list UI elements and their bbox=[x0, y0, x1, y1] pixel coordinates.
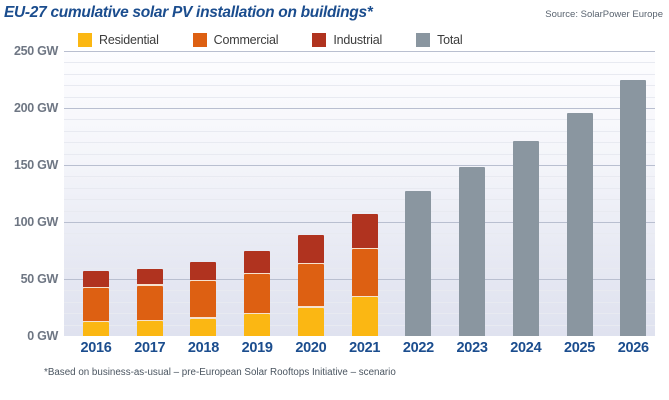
gridline-minor bbox=[64, 74, 655, 75]
legend-label: Industrial bbox=[333, 33, 382, 47]
bar-segment-residential-2017[interactable] bbox=[137, 321, 163, 336]
gridline-major bbox=[64, 51, 655, 52]
bar-segment-total-2022[interactable] bbox=[405, 191, 431, 336]
x-axis-tick-label-2024: 2024 bbox=[500, 340, 552, 356]
bar-segment-commercial-2020[interactable] bbox=[298, 264, 324, 307]
gridline-minor bbox=[64, 62, 655, 63]
bar-segment-total-2026[interactable] bbox=[620, 80, 646, 337]
bar-segment-industrial-2021[interactable] bbox=[352, 214, 378, 249]
bar-segment-divider bbox=[190, 280, 216, 282]
bar-segment-divider bbox=[298, 306, 324, 308]
legend-swatch-residential bbox=[78, 33, 92, 47]
legend-label: Commercial bbox=[214, 33, 279, 47]
y-axis-tick-label: 200 GW bbox=[0, 101, 58, 115]
x-axis-tick-label-2017: 2017 bbox=[124, 340, 176, 356]
x-axis-tick-label-2025: 2025 bbox=[554, 340, 606, 356]
x-axis-tick-label-2018: 2018 bbox=[177, 340, 229, 356]
y-axis-tick-label: 250 GW bbox=[0, 44, 58, 58]
bar-segment-industrial-2019[interactable] bbox=[244, 251, 270, 275]
page-title: EU-27 cumulative solar PV installation o… bbox=[4, 4, 373, 22]
legend-item-industrial[interactable]: Industrial bbox=[312, 33, 382, 47]
bar-segment-residential-2018[interactable] bbox=[190, 319, 216, 336]
bar-segment-commercial-2021[interactable] bbox=[352, 249, 378, 297]
x-axis-tick-label-2023: 2023 bbox=[446, 340, 498, 356]
bar-segment-residential-2016[interactable] bbox=[83, 322, 109, 336]
legend-swatch-commercial bbox=[193, 33, 207, 47]
legend-swatch-industrial bbox=[312, 33, 326, 47]
x-axis-tick-label-2020: 2020 bbox=[285, 340, 337, 356]
y-axis-tick-label: 100 GW bbox=[0, 215, 58, 229]
bar-segment-commercial-2018[interactable] bbox=[190, 281, 216, 319]
x-axis: 2016201720182019202020212022202320242025… bbox=[64, 340, 655, 362]
legend-item-total[interactable]: Total bbox=[416, 33, 462, 47]
y-axis-tick-label: 0 GW bbox=[0, 329, 58, 343]
y-axis-tick-label: 50 GW bbox=[0, 272, 58, 286]
bar-segment-industrial-2016[interactable] bbox=[83, 271, 109, 288]
bar-segment-commercial-2016[interactable] bbox=[83, 288, 109, 322]
y-axis-tick-label: 150 GW bbox=[0, 158, 58, 172]
x-axis-tick-label-2022: 2022 bbox=[392, 340, 444, 356]
bar-segment-divider bbox=[137, 320, 163, 322]
bar-segment-commercial-2019[interactable] bbox=[244, 274, 270, 314]
bar-segment-divider bbox=[244, 273, 270, 275]
bar-segment-divider bbox=[190, 317, 216, 319]
legend-label: Residential bbox=[99, 33, 159, 47]
bar-segment-divider bbox=[83, 287, 109, 289]
y-axis: 0 GW50 GW100 GW150 GW200 GW250 GW bbox=[0, 51, 58, 336]
plot-area bbox=[64, 51, 655, 336]
gridline-major bbox=[64, 108, 655, 109]
bar-segment-commercial-2017[interactable] bbox=[137, 286, 163, 321]
legend-item-residential[interactable]: Residential bbox=[78, 33, 159, 47]
bar-segment-divider bbox=[352, 248, 378, 250]
gridline-minor bbox=[64, 85, 655, 86]
bar-segment-residential-2020[interactable] bbox=[298, 308, 324, 337]
bar-segment-divider bbox=[137, 284, 163, 286]
legend-item-commercial[interactable]: Commercial bbox=[193, 33, 279, 47]
chart-legend: ResidentialCommercialIndustrialTotal bbox=[78, 33, 496, 47]
bar-segment-industrial-2020[interactable] bbox=[298, 235, 324, 265]
bar-segment-divider bbox=[244, 313, 270, 315]
bar-segment-divider bbox=[83, 321, 109, 323]
bar-segment-residential-2021[interactable] bbox=[352, 297, 378, 336]
bar-segment-divider bbox=[352, 296, 378, 298]
bar-segment-residential-2019[interactable] bbox=[244, 314, 270, 336]
gridline-minor bbox=[64, 97, 655, 98]
bar-segment-total-2023[interactable] bbox=[459, 167, 485, 336]
source-attribution: Source: SolarPower Europe bbox=[545, 9, 663, 20]
bar-segment-industrial-2018[interactable] bbox=[190, 262, 216, 281]
bar-segment-industrial-2017[interactable] bbox=[137, 269, 163, 286]
bar-segment-total-2024[interactable] bbox=[513, 141, 539, 336]
legend-label: Total bbox=[437, 33, 462, 47]
x-axis-tick-label-2021: 2021 bbox=[339, 340, 391, 356]
bar-segment-divider bbox=[298, 263, 324, 265]
x-axis-tick-label-2026: 2026 bbox=[607, 340, 659, 356]
chart-footnote: *Based on business-as-usual – pre-Europe… bbox=[44, 367, 396, 378]
x-axis-tick-label-2019: 2019 bbox=[231, 340, 283, 356]
legend-swatch-total bbox=[416, 33, 430, 47]
x-axis-tick-label-2016: 2016 bbox=[70, 340, 122, 356]
bar-segment-total-2025[interactable] bbox=[567, 113, 593, 336]
